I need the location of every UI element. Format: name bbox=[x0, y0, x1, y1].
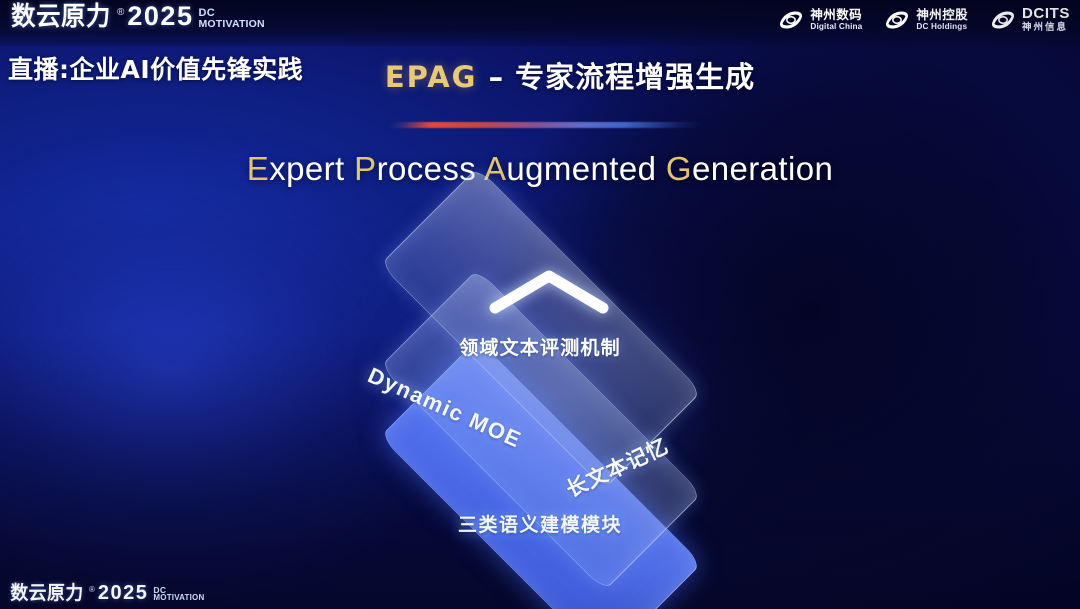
watermark-logo: 数云原力 ® 2025 DC MOTIVATION bbox=[8, 3, 1070, 603]
watermark-registered-mark-icon: ® bbox=[89, 586, 95, 594]
watermark-name-cn: 数云原力 bbox=[10, 584, 83, 603]
watermark-motivation-text: MOTIVATION bbox=[153, 594, 204, 602]
watermark-dc-motivation: DC MOTIVATION bbox=[153, 586, 204, 603]
watermark-year: 2025 bbox=[98, 583, 149, 603]
slide-canvas: 数云原力 ® 2025 DC MOTIVATION 直播:企业AI价值先锋实践 … bbox=[0, 0, 1080, 609]
